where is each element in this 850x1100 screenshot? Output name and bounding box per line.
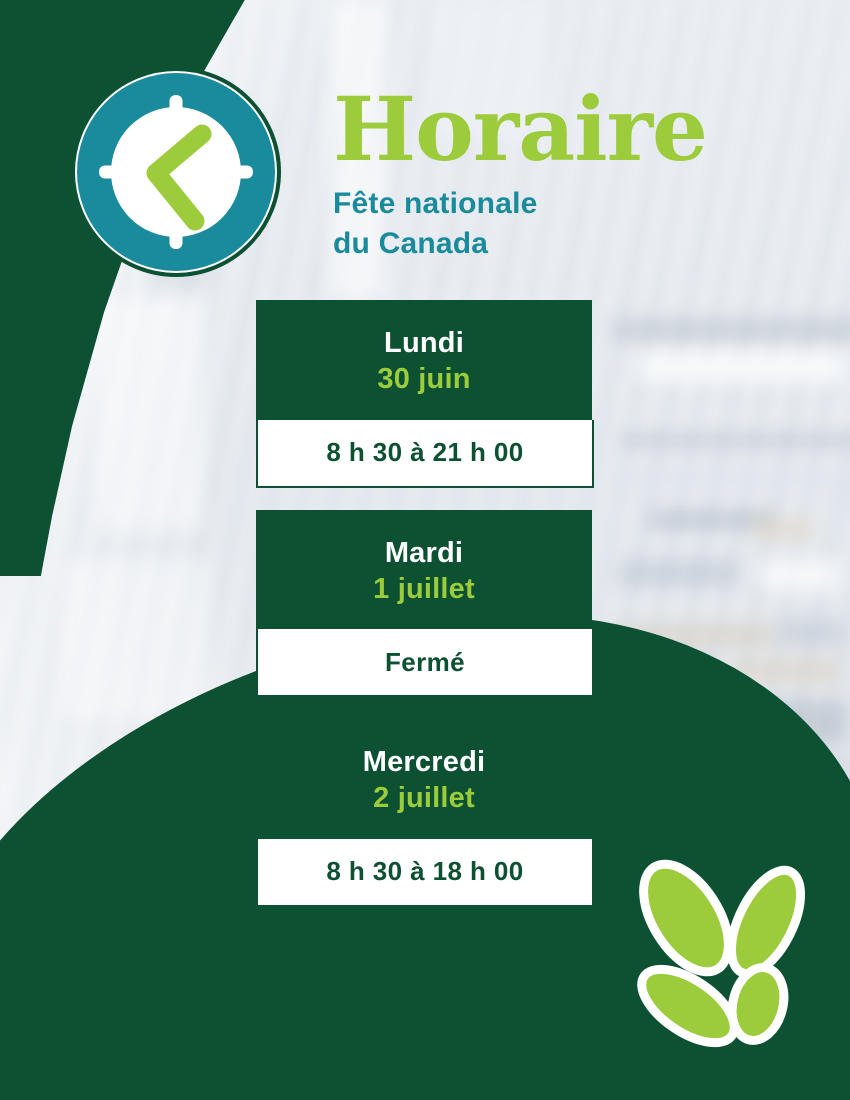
schedule-card-body: 8 h 30 à 18 h 00 [256, 839, 594, 907]
schedule-day-label: Mercredi [266, 745, 582, 779]
schedule-hours-label: Fermé [385, 647, 465, 678]
schedule-day-label: Lundi [266, 326, 582, 360]
butterfly-logo-icon [614, 856, 838, 1070]
schedule-card-body: 8 h 30 à 21 h 00 [256, 420, 594, 488]
schedule-day-label: Mardi [266, 536, 582, 570]
schedule-list: Lundi 30 juin 8 h 30 à 21 h 00 Mardi 1 j… [256, 300, 592, 907]
schedule-card: Mercredi 2 juillet 8 h 30 à 18 h 00 [256, 719, 592, 907]
background-blur-shape [612, 318, 850, 342]
schedule-hours-label: 8 h 30 à 21 h 00 [326, 437, 523, 468]
subtitle-line-1: Fête nationale [333, 184, 753, 224]
background-blur-shape [760, 560, 840, 590]
page-title: Horaire [333, 86, 753, 172]
schedule-card: Lundi 30 juin 8 h 30 à 21 h 00 [256, 300, 592, 488]
background-blur-shape [96, 300, 204, 530]
background-blur-shape [622, 472, 850, 486]
schedule-date-label: 30 juin [266, 362, 582, 397]
header-block: Horaire Fête nationale du Canada [333, 86, 753, 263]
schedule-card-header: Mercredi 2 juillet [256, 719, 592, 839]
schedule-card-header: Lundi 30 juin [256, 300, 592, 420]
schedule-card-body: Fermé [256, 629, 594, 697]
clock-icon [70, 66, 282, 278]
background-blur-shape [752, 518, 814, 540]
schedule-hours-label: 8 h 30 à 18 h 00 [326, 856, 523, 887]
subtitle-line-2: du Canada [333, 224, 753, 264]
background-blur-shape [620, 436, 850, 445]
page-subtitle: Fête nationale du Canada [333, 184, 753, 263]
background-blur-shape [780, 618, 844, 646]
schedule-date-label: 1 juillet [266, 572, 582, 607]
background-blur-shape [60, 560, 210, 720]
background-blur-shape [640, 352, 846, 382]
schedule-date-label: 2 juillet [266, 781, 582, 816]
background-blur-shape [618, 560, 738, 586]
schedule-card: Mardi 1 juillet Fermé [256, 510, 592, 698]
schedule-card-header: Mardi 1 juillet [256, 510, 592, 630]
poster-canvas: Horaire Fête nationale du Canada Lundi 3… [0, 0, 850, 1100]
